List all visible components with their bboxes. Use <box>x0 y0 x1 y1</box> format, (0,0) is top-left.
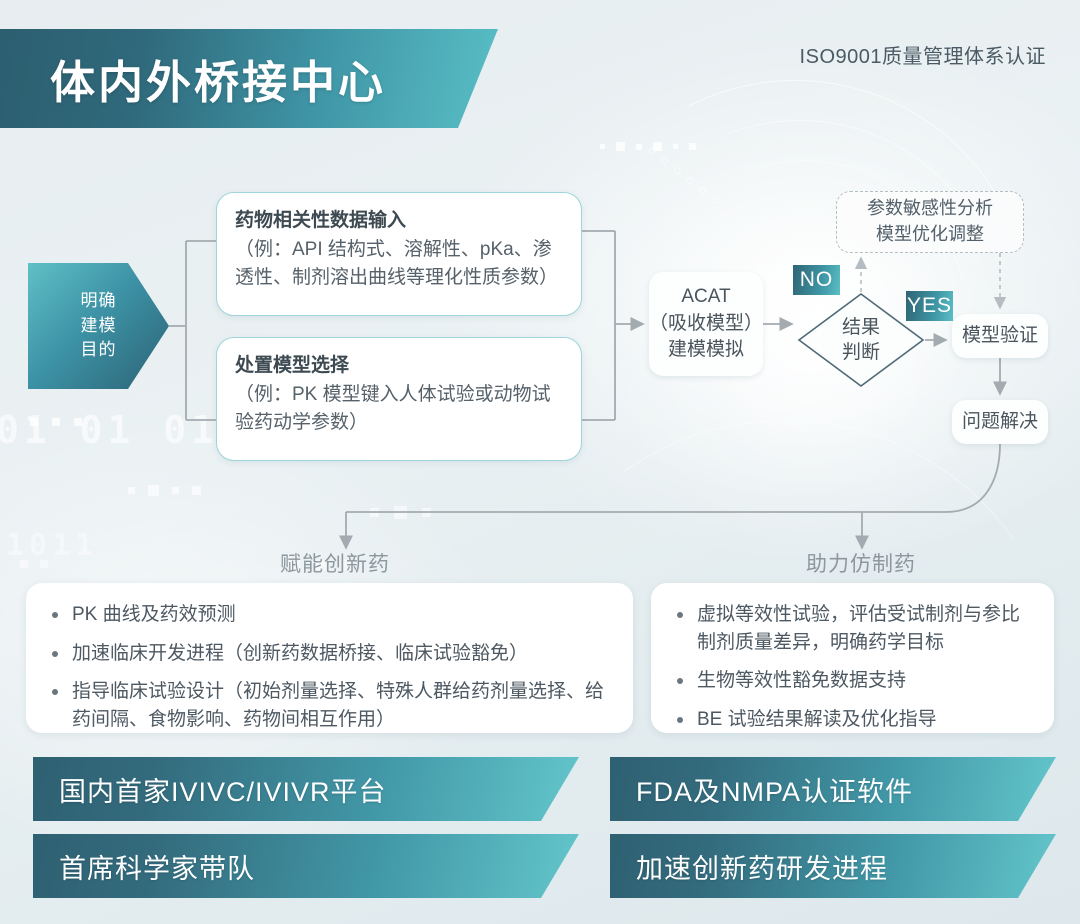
acat-line-2: （吸收模型） <box>649 313 763 334</box>
decision-line-1: 结果 <box>842 317 880 338</box>
dot-row-decor <box>647 146 720 205</box>
banner-segment-fda-nmpa-software: FDA及NMPA认证软件 <box>610 757 1056 821</box>
innovative-bullet-list: PK 曲线及药效预测 加速临床开发进程（创新药数据桥接、临床试验豁免） 指导临床… <box>48 601 611 733</box>
panel-generic-drug: 虚拟等效性试验，评估受试制剂与参比制剂质量差异，明确药学目标 生物等效性豁免数据… <box>651 583 1054 733</box>
banner-label: 国内首家IVIVC/IVIVR平台 <box>59 770 387 809</box>
flow-box-disposition-model: 处置模型选择 （例：PK 模型键入人体试验或动物试验药动学参数） <box>216 337 582 461</box>
badge-no: NO <box>793 265 840 295</box>
flow-box-title: 处置模型选择 <box>235 352 563 381</box>
page-title: 体内外桥接中心 <box>50 46 386 111</box>
entry-line-2: 建模 <box>81 316 117 335</box>
banner-label: FDA及NMPA认证软件 <box>636 770 913 809</box>
generic-bullet-list: 虚拟等效性试验，评估受试制剂与参比制剂质量差异，明确药学目标 生物等效性豁免数据… <box>673 601 1032 733</box>
flow-entry-arrow: 明确 建模 目的 <box>28 263 169 389</box>
flow-box-acat-simulation: ACAT （吸收模型） 建模模拟 <box>649 272 763 376</box>
banner-segment-accelerate-rnd: 加速创新药研发进程 <box>610 834 1056 898</box>
sensitivity-label: 参数敏感性分析 模型优化调整 <box>867 196 993 248</box>
acat-line-3: 建模模拟 <box>668 339 744 360</box>
branch-label-generic-drug: 助力仿制药 <box>806 548 916 578</box>
bottom-banner-row-2: 首席科学家带队 加速创新药研发进程 <box>0 834 1080 898</box>
list-item: 加速临床开发进程（创新药数据桥接、临床试验豁免） <box>48 640 611 668</box>
flow-entry-label: 明确 建模 目的 <box>81 289 117 363</box>
entry-line-1: 明确 <box>81 291 117 310</box>
dot-row-decor <box>30 418 82 426</box>
dot-row-decor <box>128 485 201 496</box>
badge-yes: YES <box>906 291 953 321</box>
flow-box-model-verification: 模型验证 <box>952 314 1048 358</box>
acat-label: ACAT （吸收模型） 建模模拟 <box>649 284 763 365</box>
flow-box-title: 药物相关性数据输入 <box>235 207 563 236</box>
branch-label-innovative-drug: 赋能创新药 <box>280 548 390 578</box>
acat-line-1: ACAT <box>681 286 730 307</box>
entry-line-3: 目的 <box>81 340 117 359</box>
flow-box-body: （例：API 结构式、溶解性、pKa、渗透性、制剂溶出曲线等理化性质参数） <box>235 236 563 294</box>
flow-box-sensitivity-analysis: 参数敏感性分析 模型优化调整 <box>836 191 1024 253</box>
banner-segment-chief-scientist: 首席科学家带队 <box>33 834 579 898</box>
banner-segment-ivivc-platform: 国内首家IVIVC/IVIVR平台 <box>33 757 579 821</box>
sensitivity-line-2: 模型优化调整 <box>876 224 984 244</box>
decision-line-2: 判断 <box>842 342 880 363</box>
flow-box-body: （例：PK 模型键入人体试验或动物试验药动学参数） <box>235 381 563 439</box>
list-item: 指导临床试验设计（初始剂量选择、特殊人群给药剂量选择、给药间隔、食物影响、药物间… <box>48 678 611 733</box>
banner-label: 加速创新药研发进程 <box>636 847 888 886</box>
flow-box-drug-data-input: 药物相关性数据输入 （例：API 结构式、溶解性、pKa、渗透性、制剂溶出曲线等… <box>216 192 582 316</box>
list-item: BE 试验结果解读及优化指导 <box>673 706 1032 734</box>
list-item: 生物等效性豁免数据支持 <box>673 667 1032 695</box>
verify-label: 模型验证 <box>962 323 1038 350</box>
panel-innovative-drug: PK 曲线及药效预测 加速临床开发进程（创新药数据桥接、临床试验豁免） 指导临床… <box>26 583 633 733</box>
list-item: PK 曲线及药效预测 <box>48 601 611 629</box>
dot-row-decor <box>20 560 48 568</box>
infographic-page: 01 01 01 01 01 01 1011 <box>0 0 1080 924</box>
title-banner: 体内外桥接中心 <box>0 29 498 128</box>
iso-certification-label: ISO9001质量管理体系认证 <box>800 40 1046 69</box>
sensitivity-line-1: 参数敏感性分析 <box>867 198 993 218</box>
bottom-banner-row-1: 国内首家IVIVC/IVIVR平台 FDA及NMPA认证软件 <box>0 757 1080 821</box>
flow-box-problem-solving: 问题解决 <box>952 400 1048 444</box>
banner-label: 首席科学家带队 <box>59 847 255 886</box>
dot-row-decor <box>370 506 431 519</box>
dot-row-decor <box>600 142 696 151</box>
list-item: 虚拟等效性试验，评估受试制剂与参比制剂质量差异，明确药学目标 <box>673 601 1032 656</box>
solve-label: 问题解决 <box>962 409 1038 436</box>
binary-decor-text: 1011 <box>6 528 98 563</box>
